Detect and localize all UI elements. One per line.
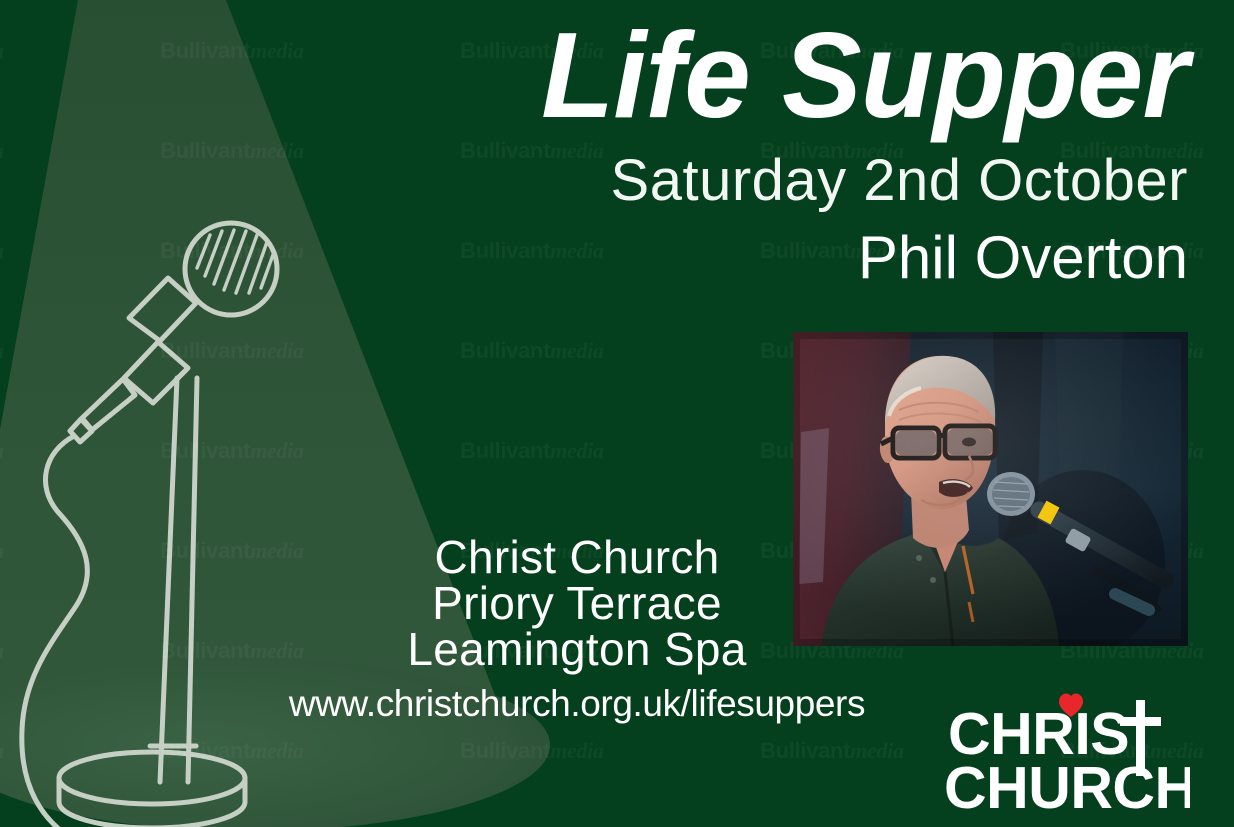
venue-line-2: Priory Terrace bbox=[260, 580, 894, 626]
watermark-text: Bullivantmedia bbox=[160, 38, 304, 64]
watermark-text: Bullivantmedia bbox=[0, 738, 4, 764]
watermark-text: Bullivantmedia bbox=[160, 338, 304, 364]
watermark-text: Bullivantmedia bbox=[760, 738, 904, 764]
event-date: Saturday 2nd October bbox=[428, 152, 1188, 210]
watermark-text: Bullivantmedia bbox=[0, 338, 4, 364]
microphone-on-stand-icon bbox=[0, 190, 360, 827]
watermark-text: Bullivantmedia bbox=[160, 438, 304, 464]
header-block: Life Supper Saturday 2nd October Phil Ov… bbox=[428, 14, 1188, 288]
venue-line-3: Leamington Spa bbox=[260, 626, 894, 672]
watermark-text: Bullivantmedia bbox=[460, 338, 604, 364]
christ-church-logo[interactable]: CHRIS CHURCH bbox=[944, 686, 1190, 814]
watermark-text: Bullivantmedia bbox=[0, 138, 4, 164]
poster-canvas: BullivantmediaBullivantmediaBullivantmed… bbox=[0, 0, 1234, 827]
watermark-text: Bullivantmedia bbox=[160, 738, 304, 764]
event-speaker: Phil Overton bbox=[428, 228, 1188, 288]
watermark-text: Bullivantmedia bbox=[460, 738, 604, 764]
logo-line-2: CHURCH bbox=[944, 755, 1190, 814]
watermark-text: Bullivantmedia bbox=[0, 38, 4, 64]
venue-block: Christ Church Priory Terrace Leamington … bbox=[260, 534, 894, 724]
website-url[interactable]: www.christchurch.org.uk/lifesuppers bbox=[260, 684, 894, 724]
venue-line-1: Christ Church bbox=[260, 534, 894, 580]
watermark-text: Bullivantmedia bbox=[160, 138, 304, 164]
watermark-text: Bullivantmedia bbox=[0, 638, 4, 664]
page-title: Life Supper bbox=[443, 14, 1188, 136]
watermark-text: Bullivantmedia bbox=[160, 238, 304, 264]
watermark-text: Bullivantmedia bbox=[0, 538, 4, 564]
watermark-text: Bullivantmedia bbox=[460, 438, 604, 464]
watermark-text: Bullivantmedia bbox=[0, 438, 4, 464]
watermark-text: Bullivantmedia bbox=[0, 238, 4, 264]
